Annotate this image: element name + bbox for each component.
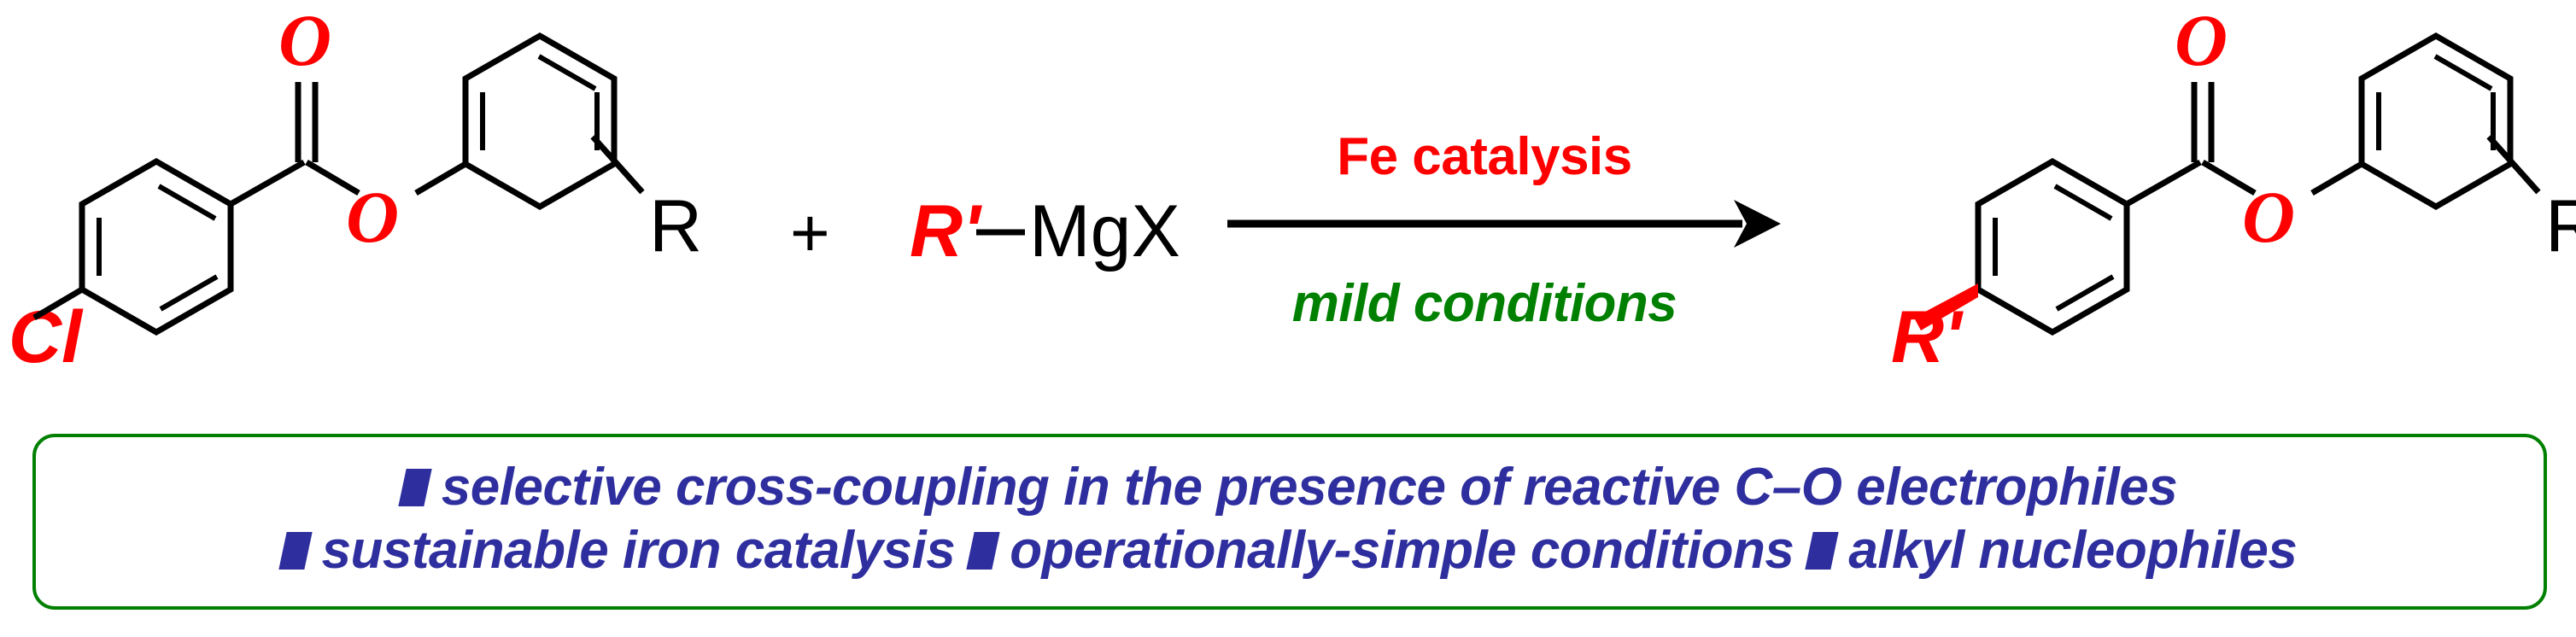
ester-o-to-aryl-bond [416, 164, 465, 193]
bullet-square-icon [1806, 532, 1839, 570]
mgx-label: MgX [1029, 190, 1180, 272]
product-r-substituent-label: R [2545, 185, 2576, 267]
aryloxy-ring [465, 36, 614, 207]
bullet-square-icon [967, 532, 1000, 570]
reagent-group: + R' MgX [790, 190, 1180, 272]
carbonyl-double-bond [298, 82, 315, 162]
r-prime-label: R' [910, 190, 982, 272]
product-aryloxy-ring [2362, 36, 2510, 207]
plus-sign: + [790, 195, 830, 271]
product-ester-o-to-aryl-bond [2312, 164, 2362, 193]
variable-position-slash [593, 137, 642, 192]
product-carbonyl-oxygen-label: O [2175, 0, 2228, 81]
r-substituent-label: R [649, 185, 702, 267]
reaction-arrow: Fe catalysis mild conditions [1227, 127, 1781, 333]
arrow-bottom-condition-label: mild conditions [1292, 274, 1677, 333]
highlight-item-operationally-simple-conditions: operationally-simple conditions [1010, 524, 1794, 577]
carbonyl-oxygen-label: O [278, 0, 331, 81]
product-variable-position-slash [2489, 137, 2538, 192]
chlorophenyl-ring [82, 161, 231, 332]
product-ring-to-carbonyl-bond [2127, 162, 2200, 204]
highlight-line-2: sustainable iron catalysis operationally… [283, 524, 2298, 577]
alkylphenyl-ring [1978, 161, 2127, 332]
highlight-item-sustainable-iron-catalysis: sustainable iron catalysis [322, 524, 956, 577]
product-structure: R' O O R [1891, 0, 2576, 378]
product-ester-oxygen-label: O [2242, 176, 2295, 258]
highlight-item-alkyl-nucleophiles: alkyl nucleophiles [1848, 524, 2297, 577]
reactant-structure: Cl O O R [9, 0, 702, 378]
arrow-top-condition-label: Fe catalysis [1337, 127, 1632, 186]
highlight-item-selective-cross-coupling: selective cross-coupling in the presence… [442, 461, 2177, 514]
highlights-box: selective cross-coupling in the presence… [32, 434, 2547, 610]
bullet-square-icon [278, 532, 312, 570]
ring-to-carbonyl-bond [231, 162, 304, 204]
product-carbonyl-double-bond [2194, 82, 2211, 162]
ester-oxygen-label: O [346, 176, 399, 258]
highlight-line-1: selective cross-coupling in the presence… [402, 461, 2177, 514]
bullet-square-icon [398, 469, 431, 506]
